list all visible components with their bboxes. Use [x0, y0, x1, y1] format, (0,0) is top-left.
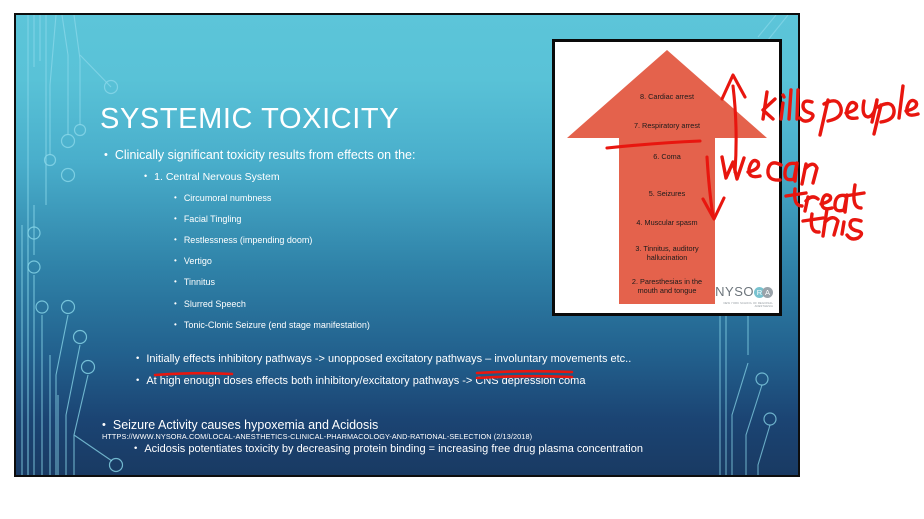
nysora-logo-a-icon: A [762, 287, 773, 298]
bullet-section-1: • 1. Central Nervous System [144, 171, 280, 183]
bullet-glyph-icon: • [174, 236, 177, 244]
bullet-glyph-icon: • [134, 444, 137, 454]
list-item-label: Facial Tingling [184, 214, 242, 224]
list-item-label: Vertigo [184, 256, 212, 266]
arrow-label-4: 4. Muscular spasm [555, 218, 779, 227]
bullet-glyph-icon: • [174, 257, 177, 265]
figure-canvas: 8. Cardiac arrest 7. Respiratory arrest … [555, 42, 779, 313]
bullet-seizure-activity-label: Seizure Activity causes hypoxemia and Ac… [113, 418, 378, 432]
presentation-slide: SYSTEMIC TOXICITY • Clinically significa… [14, 13, 800, 477]
arrow-label-6: 6. Coma [555, 152, 779, 161]
citation-url: HTTPS://WWW.NYSORA.COM/LOCAL-ANESTHETICS… [102, 432, 532, 441]
bullet-glyph-icon: • [136, 376, 139, 386]
nysora-logo-word: NYSO [715, 284, 754, 299]
bullet-acidosis: • Acidosis potentiates toxicity by decre… [134, 443, 643, 455]
bullet-section-1-label: 1. Central Nervous System [154, 171, 279, 183]
list-item: • Restlessness (impending doom) [174, 235, 312, 245]
bullet-glyph-icon: • [174, 321, 177, 329]
bullet-glyph-icon: • [174, 278, 177, 286]
bullet-seizure-activity: • Seizure Activity causes hypoxemia and … [102, 418, 378, 432]
bullet-glyph-icon: • [102, 420, 106, 431]
list-item-label: Tinnitus [184, 277, 215, 287]
bullet-pathway-2: • At high enough doses effects both inhi… [136, 375, 585, 387]
list-item: • Slurred Speech [174, 299, 246, 309]
bullet-glyph-icon: • [174, 300, 177, 308]
page-title: SYSTEMIC TOXICITY [100, 103, 399, 136]
list-item: • Vertigo [174, 256, 212, 266]
bullet-pathway-1-label: Initially effects inhibitory pathways ->… [146, 353, 631, 365]
arrow-label-8: 8. Cardiac arrest [555, 92, 779, 101]
list-item: • Facial Tingling [174, 214, 241, 224]
list-item-label: Tonic-Clonic Seizure (end stage manifest… [184, 320, 370, 330]
bullet-glyph-icon: • [144, 172, 147, 181]
arrow-label-5: 5. Seizures [555, 189, 779, 198]
upward-arrow-shape [555, 42, 779, 313]
arrow-label-7: 7. Respiratory arrest [555, 121, 779, 130]
bullet-glyph-icon: • [104, 150, 108, 161]
list-item: • Circumoral numbness [174, 193, 271, 203]
bullet-glyph-icon: • [136, 354, 139, 364]
list-item-label: Circumoral numbness [184, 193, 272, 203]
nysora-toxicity-arrow-figure: 8. Cardiac arrest 7. Respiratory arrest … [552, 39, 782, 316]
nysora-logo-tagline: NEW YORK SCHOOL OF REGIONAL ANESTHESIA [711, 302, 773, 308]
bullet-glyph-icon: • [174, 215, 177, 223]
list-item-label: Slurred Speech [184, 299, 246, 309]
bullet-acidosis-label: Acidosis potentiates toxicity by decreas… [144, 443, 643, 455]
nysora-logo: NYSORA NEW YORK SCHOOL OF REGIONAL ANEST… [711, 283, 773, 308]
list-item-label: Restlessness (impending doom) [184, 235, 313, 245]
bullet-pathway-1: • Initially effects inhibitory pathways … [136, 353, 631, 365]
list-item: • Tonic-Clonic Seizure (end stage manife… [174, 320, 370, 330]
bullet-lead-label: Clinically significant toxicity results … [115, 148, 416, 162]
ink-note-this [803, 209, 862, 239]
arrow-label-3: 3. Tinnitus, auditory hallucination [555, 244, 779, 262]
bullet-lead: • Clinically significant toxicity result… [104, 148, 415, 162]
bullet-pathway-2-label: At high enough doses effects both inhibi… [146, 375, 585, 387]
list-item: • Tinnitus [174, 277, 215, 287]
bullet-glyph-icon: • [174, 194, 177, 202]
